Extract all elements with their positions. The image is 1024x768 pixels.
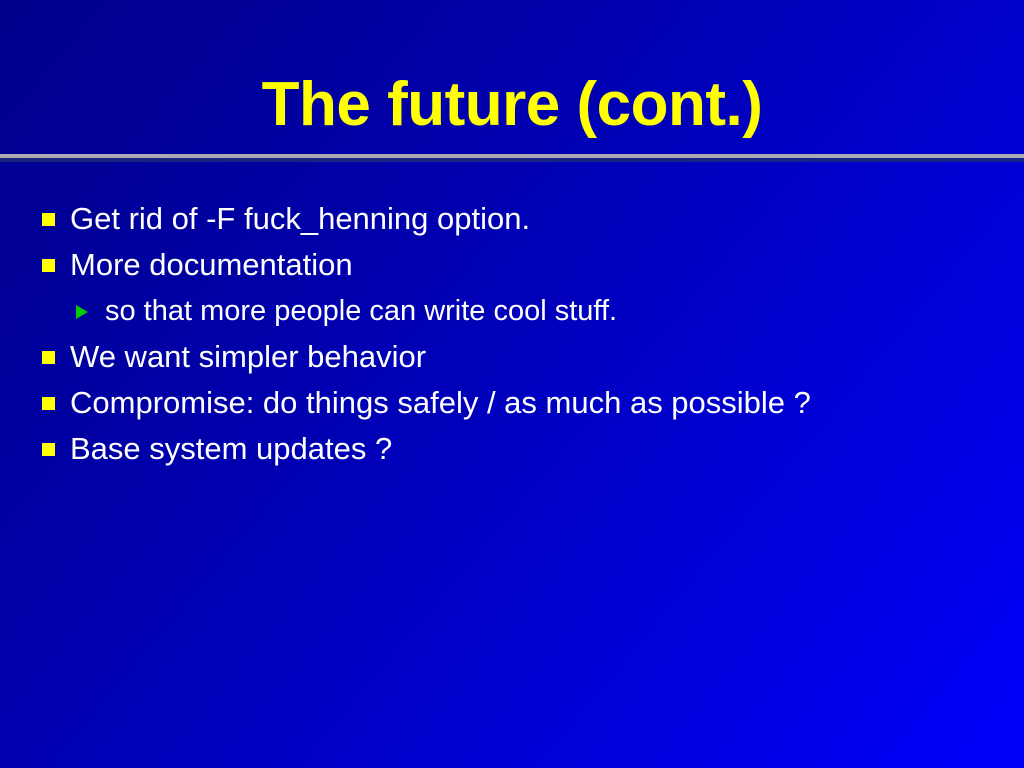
square-bullet-icon <box>42 426 56 472</box>
bullet-text: We want simpler behavior <box>70 339 426 374</box>
bullet-text: Get rid of -F fuck_henning option. <box>70 201 530 236</box>
slide-bullet-list: Get rid of -F fuck_henning option. More … <box>0 196 1024 472</box>
square-bullet-icon <box>42 334 56 380</box>
bullet-text: Base system updates ? <box>70 431 392 466</box>
triangle-bullet-icon <box>76 288 92 334</box>
presentation-slide: The future (cont.) Get rid of -F fuck_he… <box>0 0 1024 768</box>
bullet-item: More documentation <box>0 242 1024 288</box>
bullet-item: Get rid of -F fuck_henning option. <box>0 196 1024 242</box>
square-bullet-icon <box>42 242 56 288</box>
bullet-item: We want simpler behavior <box>0 334 1024 380</box>
title-divider <box>0 154 1024 162</box>
sub-bullet-item: so that more people can write cool stuff… <box>0 288 1024 334</box>
divider-dark-bar <box>0 158 1024 162</box>
slide-title: The future (cont.) <box>262 70 763 140</box>
bullet-text: More documentation <box>70 247 353 282</box>
bullet-item: Compromise: do things safely / as much a… <box>0 380 1024 426</box>
square-bullet-icon <box>42 196 56 242</box>
bullet-item: Base system updates ? <box>0 426 1024 472</box>
slide-title-area: The future (cont.) <box>0 70 1024 140</box>
bullet-text: Compromise: do things safely / as much a… <box>70 385 811 420</box>
square-bullet-icon <box>42 380 56 426</box>
bullet-text: so that more people can write cool stuff… <box>105 295 617 327</box>
